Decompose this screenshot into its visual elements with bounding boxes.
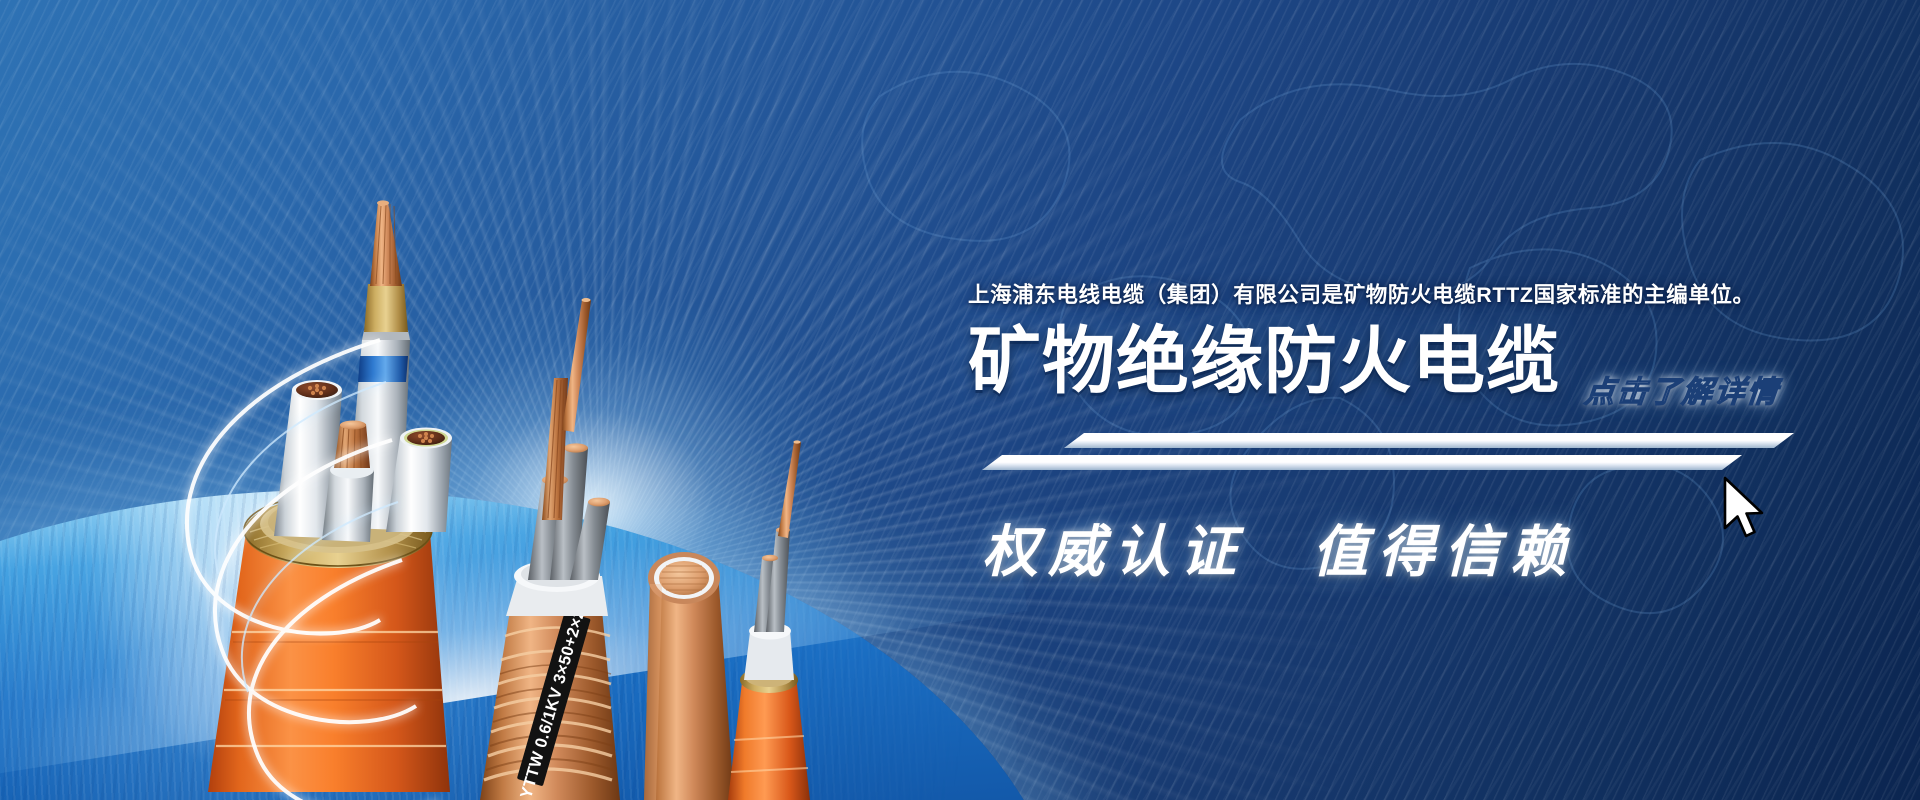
divider-bar-bottom bbox=[982, 455, 1742, 470]
headline-row: 矿物绝缘防火电缆 点击了解详情 bbox=[968, 329, 1848, 421]
decorative-divider bbox=[968, 429, 1848, 485]
banner-copy: 上海浦东电线电缆（集团）有限公司是矿物防火电缆RTTZ国家标准的主编单位。 矿物… bbox=[968, 278, 1848, 588]
divider-bar-top bbox=[1064, 433, 1794, 448]
learn-more-button[interactable]: 点击了解详情 bbox=[1583, 367, 1783, 411]
page-title: 矿物绝缘防火电缆 bbox=[968, 325, 1560, 398]
cable-bundle-illustration: YTTW 0.6/1KV 3×50+2×25 bbox=[150, 180, 910, 800]
company-tagline: 上海浦东电线电缆（集团）有限公司是矿物防火电缆RTTZ国家标准的主编单位。 bbox=[968, 278, 1848, 309]
cable-product-photo: YTTW 0.6/1KV 3×50+2×25 bbox=[150, 180, 910, 800]
hero-banner: YTTW 0.6/1KV 3×50+2×25 bbox=[0, 0, 1920, 800]
brand-slogan: 权威认证 值得信赖 bbox=[982, 507, 1848, 588]
